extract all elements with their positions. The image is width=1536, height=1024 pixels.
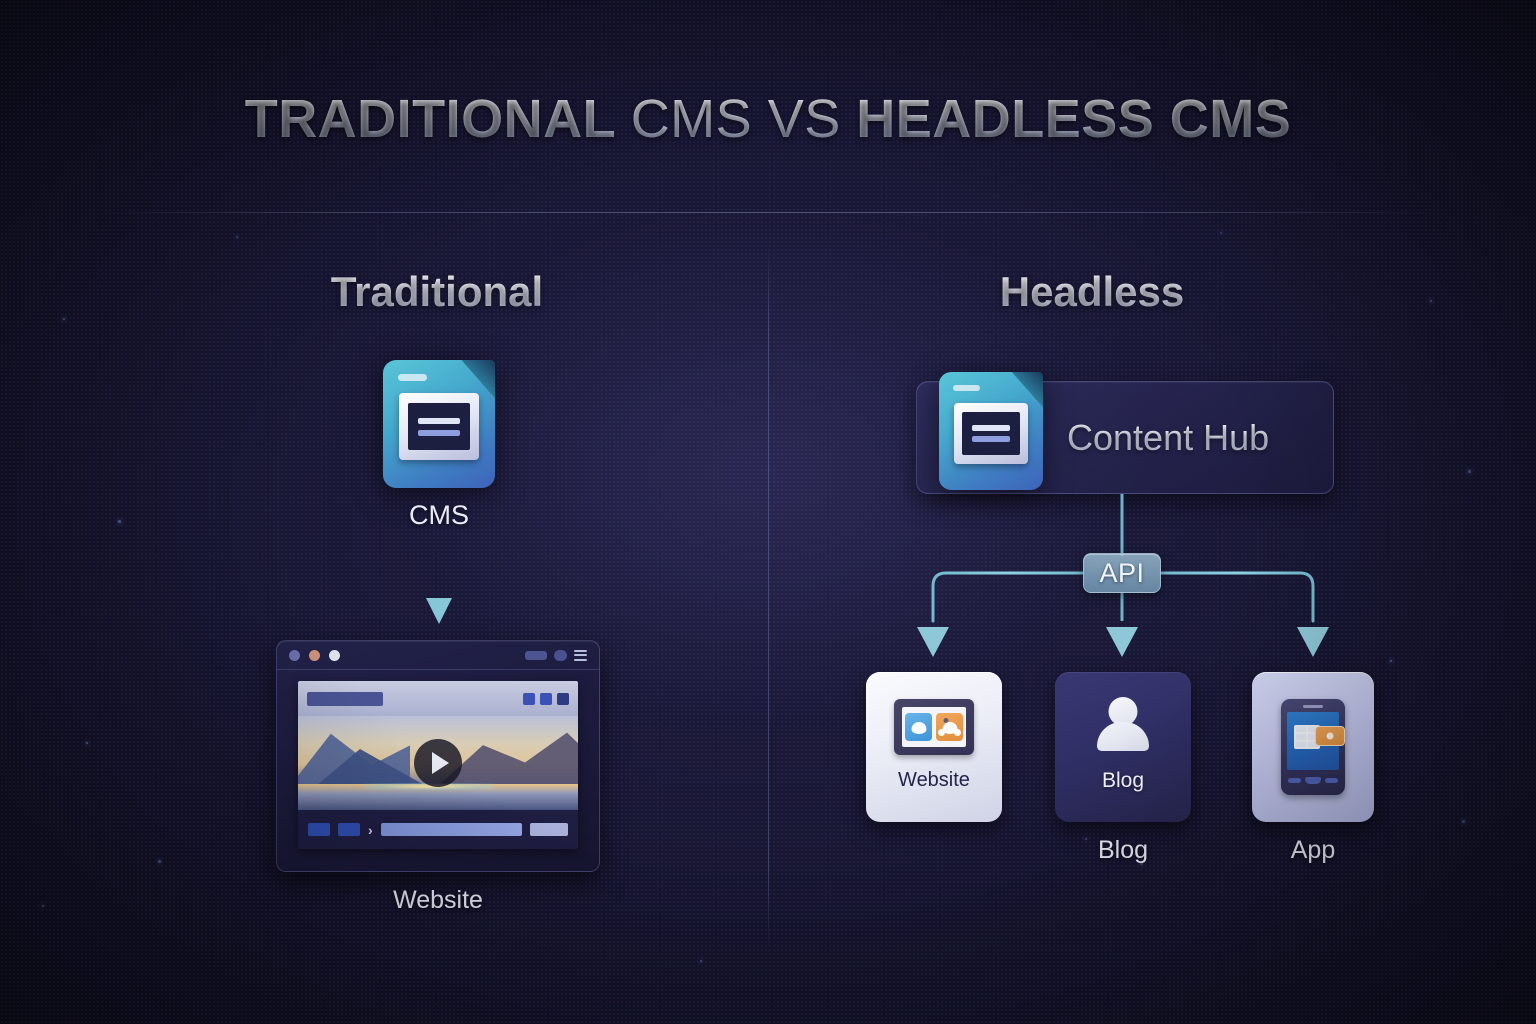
phone-icon [1281,699,1345,795]
horizontal-divider [92,212,1444,213]
phone-screen [1287,712,1339,770]
hero-image [298,716,578,810]
document-tab-bar [398,374,427,381]
document-text-line [418,430,459,436]
person-icon [1094,697,1152,753]
person-body [1097,722,1149,751]
droplet-shape [911,722,926,734]
footer-end-block [530,823,568,836]
endpoint-card-blog-label: Blog [1102,769,1144,793]
nav-square-icon [557,693,569,705]
document-screen [399,393,480,460]
document-screen-inner [962,412,1020,455]
vertical-divider [768,245,769,951]
chevron-right-icon: › [368,823,373,837]
traditional-website-label: Website [338,886,538,915]
title-part-headless: HEADLESS CMS [856,89,1291,149]
monitor-screen [902,707,966,747]
play-triangle [432,752,449,774]
content-hub-document-icon [939,372,1043,490]
window-dot-icon [289,650,300,661]
content-hub-panel: Content Hub [916,381,1334,494]
footer-block-icon [338,823,360,836]
title-part-traditional: TRADITIONAL [245,89,631,149]
image-tile-blue [905,713,932,741]
endpoint-label-blog: Blog [1023,836,1223,865]
site-header-bar [298,681,578,716]
phone-speaker [1303,705,1323,708]
window-dot-icon [309,650,320,661]
document-text-line [972,425,1010,431]
browser-window-mockup: › [276,640,600,872]
play-button-icon [414,739,462,787]
site-nav-squares [523,693,569,705]
site-logo-placeholder [307,692,383,706]
endpoint-card-app[interactable] [1252,672,1374,822]
api-badge: API [1083,553,1161,593]
hamburger-menu-icon [574,650,587,661]
chrome-pill-icon [525,651,547,660]
orange-card-icon [1315,726,1345,746]
window-dot-icon [329,650,340,661]
site-footer-toolbar: › [298,810,578,849]
chrome-circle-icon [554,650,567,661]
figure-body-shape [942,722,957,734]
cms-label: CMS [339,500,539,531]
document-screen-inner [408,403,471,449]
phone-buttons [1288,777,1338,784]
api-label: API [1099,558,1144,589]
phone-home-button-icon [1305,777,1321,784]
document-text-line [418,418,459,424]
endpoint-card-website-label: Website [898,769,970,792]
endpoint-card-website[interactable]: Website [866,672,1002,822]
chrome-right-controls [525,650,587,661]
content-hub-label: Content Hub [1067,417,1269,459]
footer-block-icon [308,823,330,836]
footer-progress-bar [381,823,522,836]
down-arrow-icon [424,548,454,626]
document-text-line [972,436,1010,442]
document-screen [954,403,1029,464]
diagram-canvas: TRADITIONAL CMS VS HEADLESS CMS Traditio… [0,0,1536,1024]
image-tile-orange [936,713,963,741]
column-heading-headless: Headless [892,268,1292,316]
nav-square-icon [523,693,535,705]
title-part-cms-vs: CMS VS [631,89,857,149]
monitor-icon [894,699,974,755]
nav-square-icon [540,693,552,705]
column-heading-traditional: Traditional [237,268,637,316]
document-tab-bar [953,385,980,391]
cms-document-icon [383,360,495,488]
endpoint-label-app: App [1213,836,1413,865]
phone-button-icon [1288,778,1301,783]
site-canvas: › [298,681,578,849]
page-title: TRADITIONAL CMS VS HEADLESS CMS [0,92,1536,146]
endpoint-card-blog[interactable]: Blog [1055,672,1191,822]
phone-button-icon [1325,778,1338,783]
browser-chrome [277,641,599,670]
